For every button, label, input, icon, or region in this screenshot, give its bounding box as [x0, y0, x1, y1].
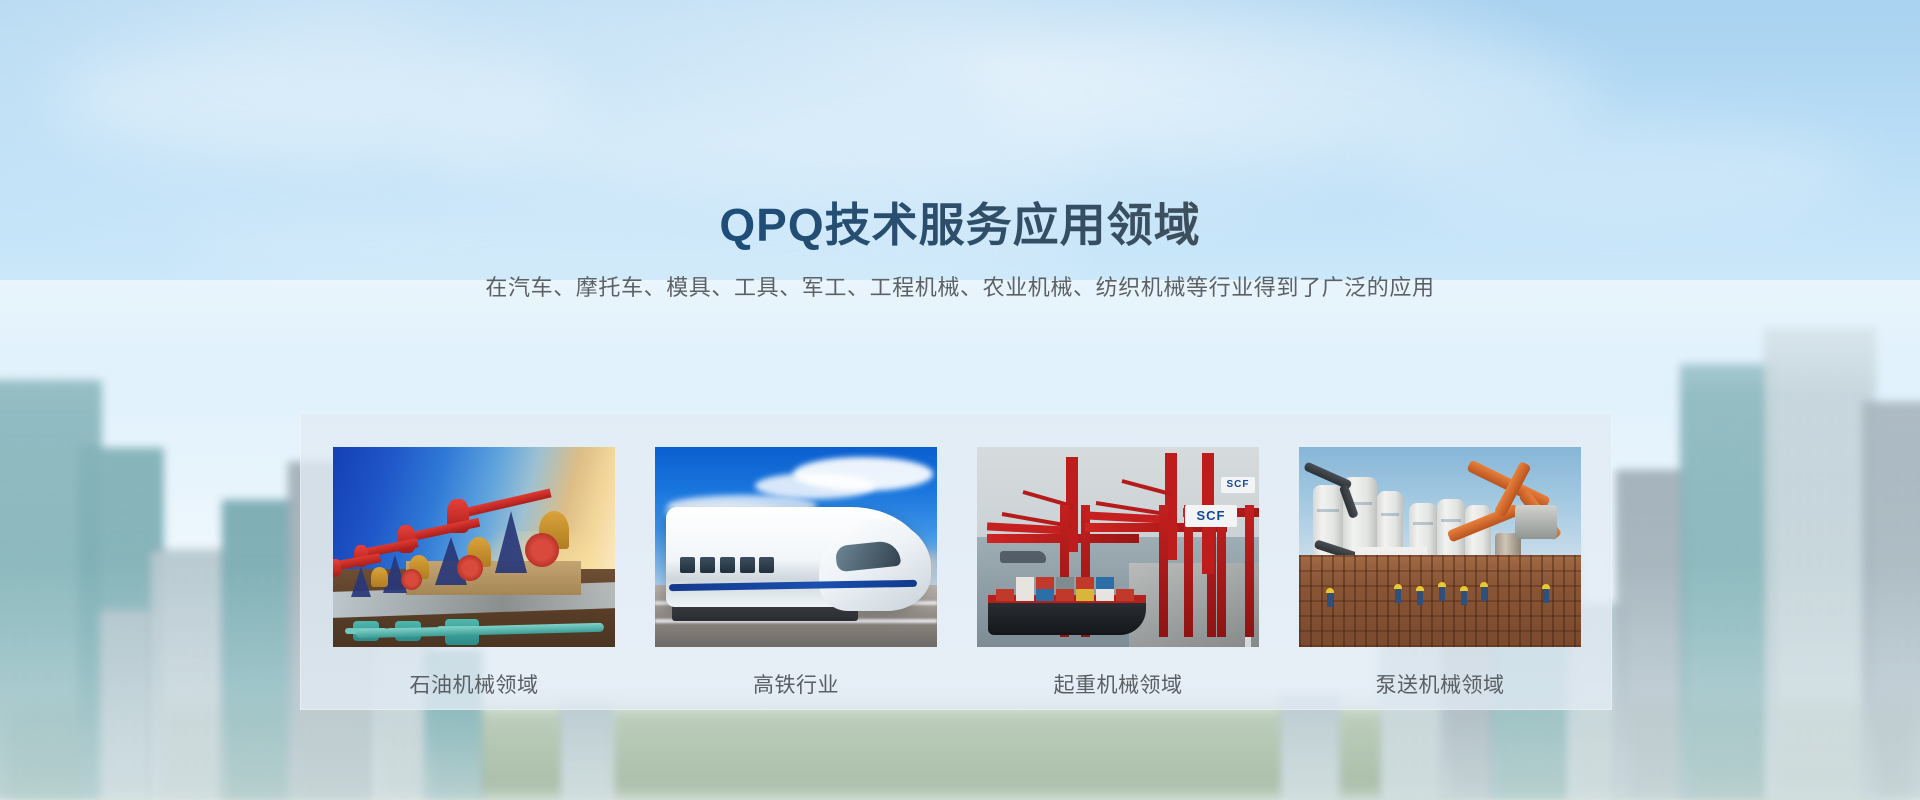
site-worker: [1417, 591, 1423, 605]
heading-block: QPQ技术服务应用领域 在汽车、摩托车、模具、工具、军工、工程机械、农业机械、纺…: [0, 196, 1920, 304]
page-subtitle: 在汽车、摩托车、模具、工具、军工、工程机械、农业机械、纺织机械等行业得到了广泛的…: [0, 272, 1920, 304]
cloud-wisp: [420, 110, 1100, 200]
site-worker: [1461, 591, 1467, 605]
train-window: [759, 557, 774, 573]
train-window: [680, 557, 695, 573]
site-worker: [1543, 589, 1549, 603]
crane-operator-label: SCF: [1185, 505, 1237, 527]
pump-control-box: [1515, 505, 1557, 539]
train-window: [720, 557, 735, 573]
card-oil-machinery[interactable]: 石油机械领域: [333, 447, 615, 699]
hero-banner: QPQ技术服务应用领域 在汽车、摩托车、模具、工具、军工、工程机械、农业机械、纺…: [0, 0, 1920, 800]
card-caption: 高铁行业: [655, 669, 937, 699]
card-high-speed-rail[interactable]: 高铁行业: [655, 447, 937, 699]
pump-platform: [406, 561, 581, 595]
oil-pumpjack-scene: [333, 447, 615, 647]
card-thumbnail-crane[interactable]: SCF SCF: [977, 447, 1259, 647]
application-fields-panel: 石油机械领域: [300, 413, 1612, 710]
card-lifting-machinery[interactable]: SCF SCF: [977, 447, 1259, 699]
site-worker: [1481, 587, 1487, 601]
site-worker: [1439, 587, 1445, 601]
card-caption: 起重机械领域: [977, 669, 1259, 699]
site-worker: [1327, 593, 1333, 607]
train-window: [700, 557, 715, 573]
train-window: [740, 557, 755, 573]
concrete-pumping-scene: [1299, 447, 1581, 647]
crane-operator-label-small: SCF: [1221, 477, 1255, 493]
card-thumbnail-train[interactable]: [655, 447, 937, 647]
card-thumbnail-pump[interactable]: [1299, 447, 1581, 647]
card-caption: 泵送机械领域: [1299, 669, 1581, 699]
card-grid: 石油机械领域: [333, 447, 1581, 699]
site-worker: [1395, 589, 1401, 603]
ship-hull: [988, 601, 1146, 635]
container-ship: [988, 573, 1146, 635]
card-thumbnail-oil[interactable]: [333, 447, 615, 647]
rebar-grid: [1299, 555, 1581, 647]
card-pumping-machinery[interactable]: 泵送机械领域: [1299, 447, 1581, 699]
page-title: QPQ技术服务应用领域: [0, 196, 1920, 254]
high-speed-train-scene: [655, 447, 937, 647]
port-crane-scene: SCF SCF: [977, 447, 1259, 647]
card-caption: 石油机械领域: [333, 669, 615, 699]
